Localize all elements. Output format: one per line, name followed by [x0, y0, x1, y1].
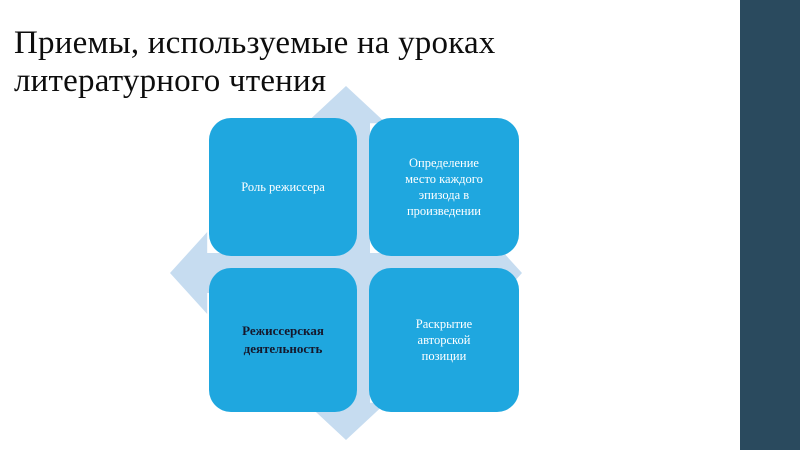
- diagram-box-role-director[interactable]: Роль режиссера: [209, 118, 357, 256]
- diagram-box-author-position[interactable]: Раскрытие авторской позиции: [369, 268, 519, 412]
- matrix-diagram: Роль режиссера Определение место каждого…: [160, 80, 580, 450]
- diagram-box-director-activity[interactable]: Режиссерская деятельность: [209, 268, 357, 412]
- slide-canvas: Приемы, используемые на уроках литератур…: [0, 0, 800, 450]
- diagram-box-label: Режиссерская деятельность: [242, 322, 324, 358]
- diagram-box-episode-placement[interactable]: Определение место каждого эпизода в прои…: [369, 118, 519, 256]
- diagram-box-label: Определение место каждого эпизода в прои…: [405, 155, 483, 219]
- diagram-box-label: Раскрытие авторской позиции: [416, 316, 472, 364]
- diagram-box-label: Роль режиссера: [241, 179, 325, 195]
- accent-bar-right: [740, 0, 800, 450]
